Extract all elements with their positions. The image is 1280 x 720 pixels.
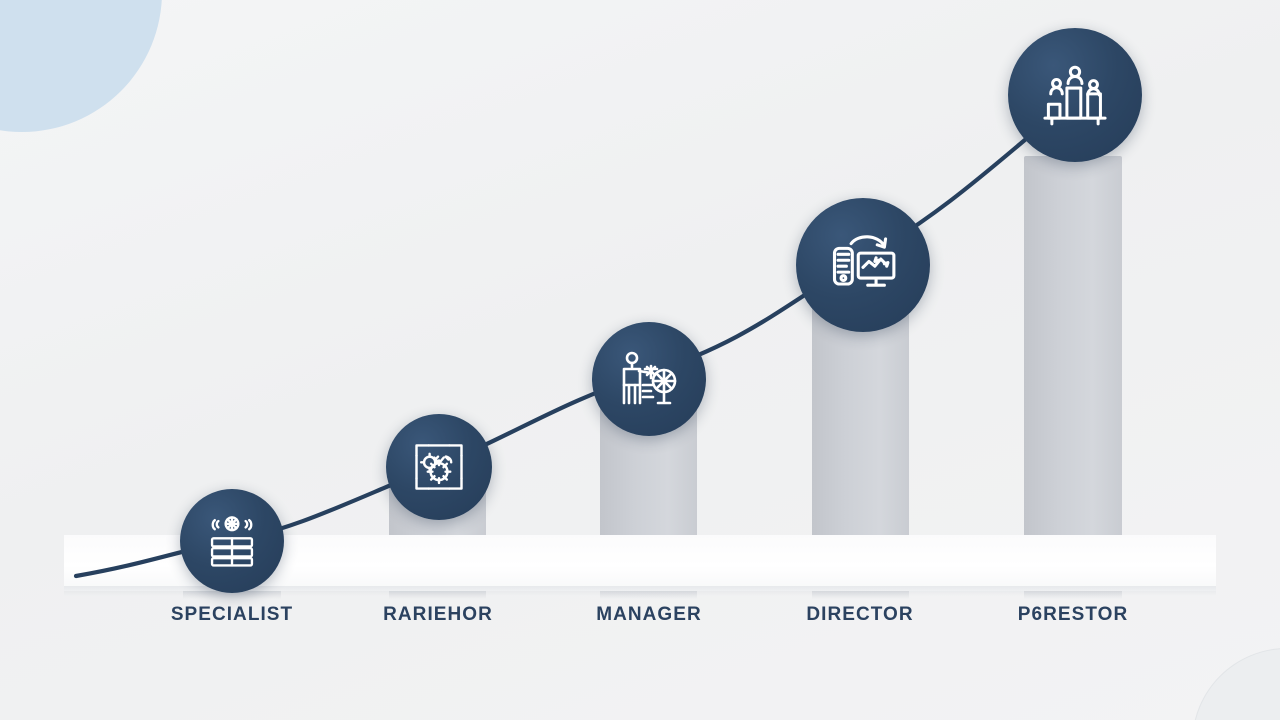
stage-marker-prestor[interactable] [1008, 28, 1142, 162]
stage-label-prestor: P6RESTOR [973, 604, 1173, 626]
infographic-canvas: SPECIALIST RARIEHOR MANAGER DIRECTOR P6R… [0, 0, 1280, 720]
mobile-to-desktop-sync-icon [825, 227, 901, 303]
stage-marker-director[interactable] [796, 198, 930, 332]
stage-label-rariehor: RARIEHOR [338, 604, 538, 626]
stage-label-specialist: SPECIALIST [132, 604, 332, 626]
bar-chart-people-growth-icon [1038, 58, 1112, 132]
stage-marker-manager[interactable] [592, 322, 706, 436]
presenter-person-chart-icon [617, 347, 681, 411]
server-stack-network-icon [203, 512, 261, 570]
stage-label-director: DIRECTOR [760, 604, 960, 626]
frame-gear-nodes-icon [409, 437, 469, 497]
stage-marker-rariehor[interactable] [386, 414, 492, 520]
stage-label-manager: MANAGER [549, 604, 749, 626]
stage-marker-specialist[interactable] [180, 489, 284, 593]
